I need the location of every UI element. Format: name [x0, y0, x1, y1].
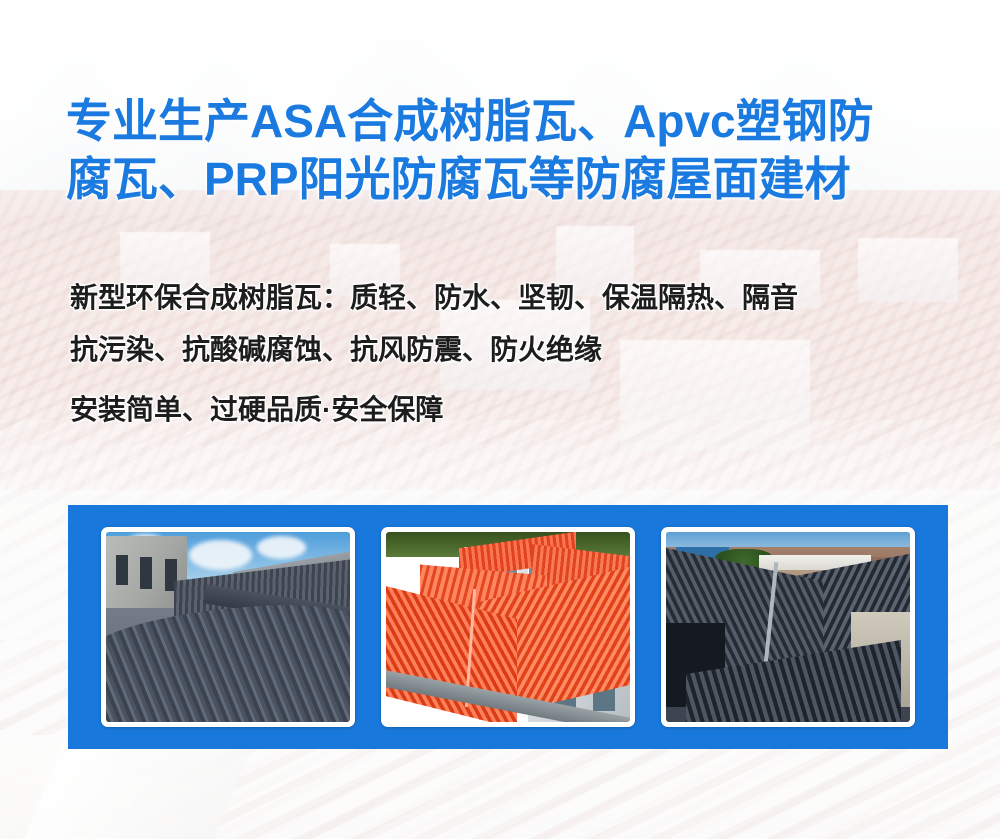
banner-subtitle: 新型环保合成树脂瓦：质轻、防水、坚韧、保温隔热、隔音 抗污染、抗酸碱腐蚀、抗风防… [70, 272, 960, 436]
product-banner: 专业生产ASA合成树脂瓦、Apvc塑钢防 腐瓦、PRP阳光防腐瓦等防腐屋面建材 … [0, 0, 1000, 839]
photo-frame-3[interactable] [661, 527, 915, 727]
red-resin-tile-roof-photo [386, 532, 630, 722]
subtitle-line-2: 抗污染、抗酸碱腐蚀、抗风防震、防火绝缘 [70, 324, 960, 376]
subtitle-line-3: 安装简单、过硬品质·安全保障 [70, 384, 960, 436]
subtitle-line-1: 新型环保合成树脂瓦：质轻、防水、坚韧、保温隔热、隔音 [70, 272, 960, 324]
black-resin-tile-roof-photo [666, 532, 910, 722]
photo-frame-1[interactable] [101, 527, 355, 727]
banner-headline: 专业生产ASA合成树脂瓦、Apvc塑钢防 腐瓦、PRP阳光防腐瓦等防腐屋面建材 [66, 92, 946, 208]
photo-gallery-panel [68, 505, 948, 749]
grey-resin-tile-roof-photo [106, 532, 350, 722]
photo-frame-2[interactable] [381, 527, 635, 727]
